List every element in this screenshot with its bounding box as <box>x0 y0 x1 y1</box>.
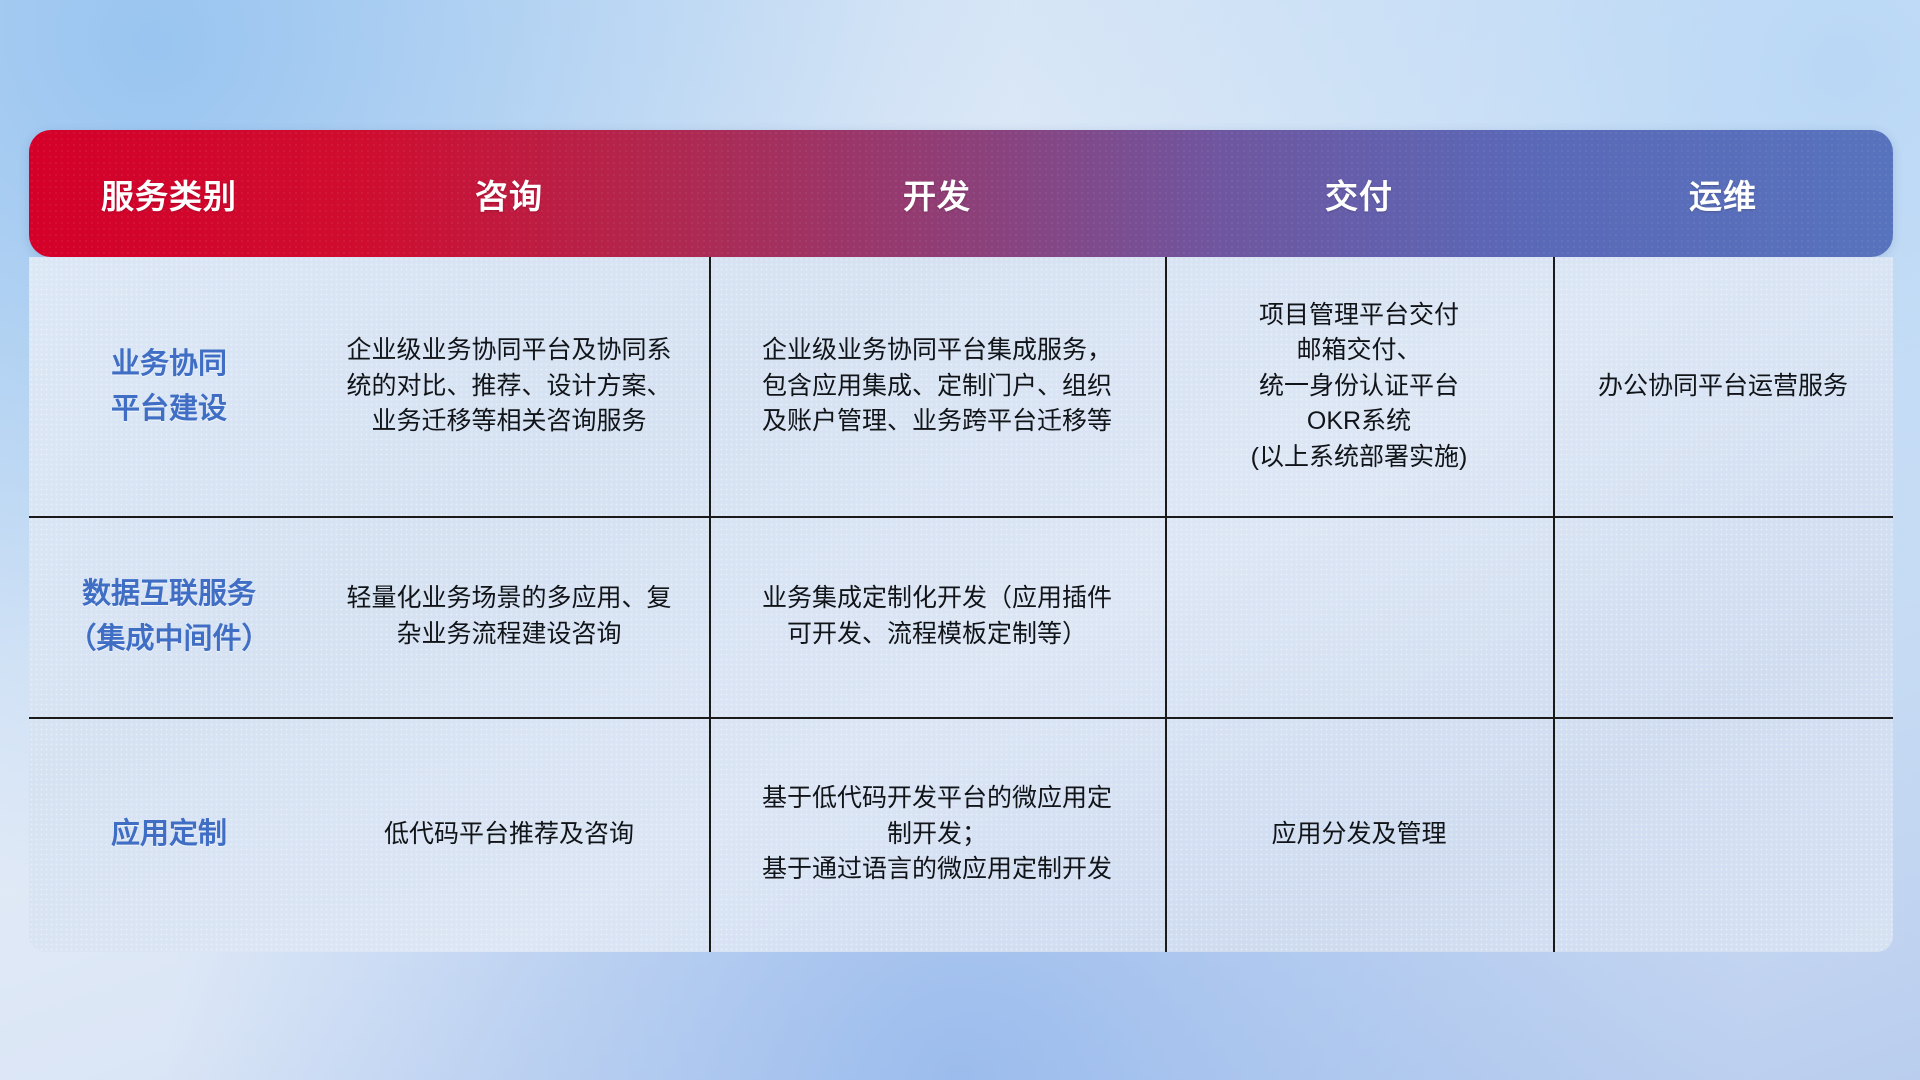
cell-operations: 办公协同平台运营服务 <box>1553 369 1893 405</box>
table-row: 业务协同 平台建设 企业级业务协同平台及协同系 统的对比、推荐、设计方案、 业务… <box>29 257 1893 516</box>
table-row: 应用定制 低代码平台推荐及咨询 基于低代码开发平台的微应用定 制开发； 基于通过… <box>29 717 1893 952</box>
column-header-category: 服务类别 <box>29 170 309 218</box>
cell-consulting: 低代码平台推荐及咨询 <box>309 817 709 853</box>
cell-development: 基于低代码开发平台的微应用定 制开发； 基于通过语言的微应用定制开发 <box>709 781 1165 888</box>
cell-category: 业务协同 平台建设 <box>29 342 309 432</box>
cell-delivery: 项目管理平台交付 邮箱交付、 统一身份认证平台 OKR系统 (以上系统部署实施) <box>1165 298 1553 476</box>
table-header-row: 服务类别 咨询 开发 交付 运维 <box>29 130 1893 257</box>
table-row: 数据互联服务 （集成中间件） 轻量化业务场景的多应用、复 杂业务流程建设咨询 业… <box>29 516 1893 717</box>
table-body: 业务协同 平台建设 企业级业务协同平台及协同系 统的对比、推荐、设计方案、 业务… <box>29 257 1893 952</box>
cell-development: 企业级业务协同平台集成服务， 包含应用集成、定制门户、组织 及账户管理、业务跨平… <box>709 333 1165 440</box>
column-header-development: 开发 <box>709 170 1165 218</box>
row-divider-1 <box>29 516 1893 518</box>
column-header-consulting: 咨询 <box>309 170 709 218</box>
column-header-delivery: 交付 <box>1165 170 1553 218</box>
column-divider-development-delivery <box>1165 257 1167 952</box>
cell-development: 业务集成定制化开发（应用插件 可开发、流程模板定制等） <box>709 581 1165 652</box>
cell-delivery: 应用分发及管理 <box>1165 817 1553 853</box>
column-divider-consulting-development <box>709 257 711 952</box>
column-header-operations: 运维 <box>1553 170 1893 218</box>
cell-category: 应用定制 <box>29 812 309 857</box>
cell-consulting: 企业级业务协同平台及协同系 统的对比、推荐、设计方案、 业务迁移等相关咨询服务 <box>309 333 709 440</box>
row-divider-2 <box>29 717 1893 719</box>
cell-category: 数据互联服务 （集成中间件） <box>29 572 309 662</box>
cell-consulting: 轻量化业务场景的多应用、复 杂业务流程建设咨询 <box>309 581 709 652</box>
column-divider-delivery-operations <box>1553 257 1555 952</box>
service-matrix-table: 服务类别 咨询 开发 交付 运维 业务协同 平台建设 企业级业务协同平台及协同系… <box>29 130 1893 952</box>
slide-canvas: 服务类别 咨询 开发 交付 运维 业务协同 平台建设 企业级业务协同平台及协同系… <box>0 0 1920 1080</box>
